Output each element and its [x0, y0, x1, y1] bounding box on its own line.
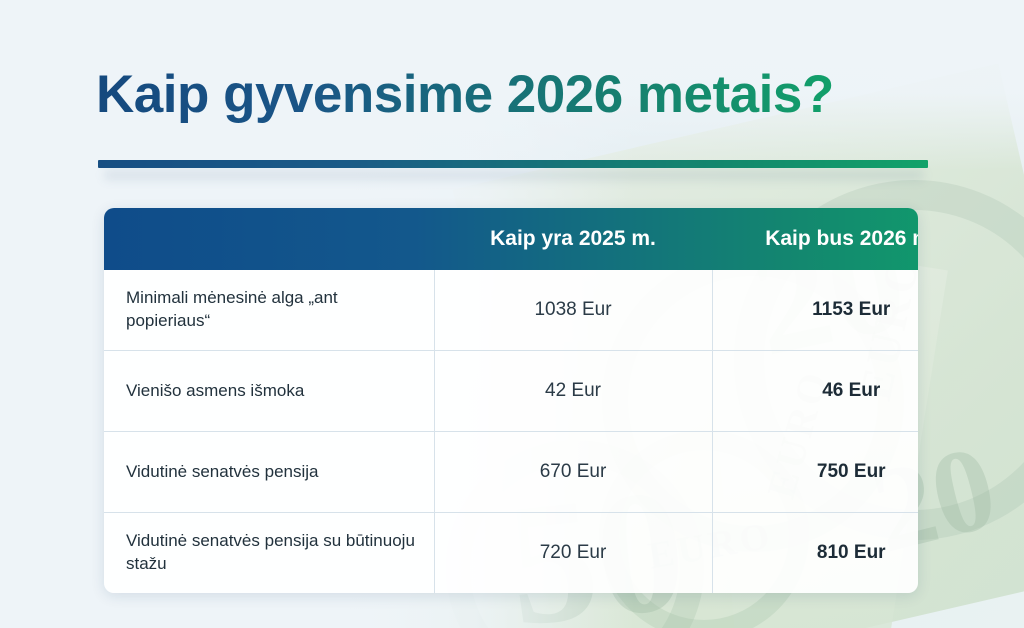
row-label: Vidutinė senatvės pensija	[104, 432, 434, 513]
page-title: Kaip gyvensime 2026 metais?	[96, 64, 834, 125]
table-body: Minimali mėnesinė alga „ant popieriaus“ …	[104, 270, 918, 593]
title-rule	[98, 160, 928, 168]
table-row: Minimali mėnesinė alga „ant popieriaus“ …	[104, 270, 918, 351]
poster-canvas: 20 50 20 EURO EURO EURO Kaip gyvensime 2…	[0, 0, 1024, 628]
row-value-next: 46 Eur	[712, 351, 918, 432]
row-label: Vidutinė senatvės pensija su būtinuoju s…	[104, 513, 434, 594]
column-header-next: Kaip bus 2026 m.	[712, 208, 918, 270]
table-head: Kaip yra 2025 m. Kaip bus 2026 m.	[104, 208, 918, 270]
row-label: Minimali mėnesinė alga „ant popieriaus“	[104, 270, 434, 351]
row-value-now: 42 Eur	[434, 351, 712, 432]
row-value-next: 750 Eur	[712, 432, 918, 513]
row-label: Vienišo asmens išmoka	[104, 351, 434, 432]
column-header-now: Kaip yra 2025 m.	[434, 208, 712, 270]
comparison-table: Kaip yra 2025 m. Kaip bus 2026 m. Minima…	[104, 208, 918, 593]
table-header-row: Kaip yra 2025 m. Kaip bus 2026 m.	[104, 208, 918, 270]
table-row: Vienišo asmens išmoka 42 Eur 46 Eur	[104, 351, 918, 432]
table-row: Vidutinė senatvės pensija 670 Eur 750 Eu…	[104, 432, 918, 513]
title-rule-shadow	[104, 170, 924, 180]
row-value-now: 720 Eur	[434, 513, 712, 594]
column-header-label	[104, 208, 434, 270]
row-value-now: 1038 Eur	[434, 270, 712, 351]
row-value-now: 670 Eur	[434, 432, 712, 513]
comparison-table-element: Kaip yra 2025 m. Kaip bus 2026 m. Minima…	[104, 208, 918, 593]
row-value-next: 810 Eur	[712, 513, 918, 594]
table-row: Vidutinė senatvės pensija su būtinuoju s…	[104, 513, 918, 594]
row-value-next: 1153 Eur	[712, 270, 918, 351]
